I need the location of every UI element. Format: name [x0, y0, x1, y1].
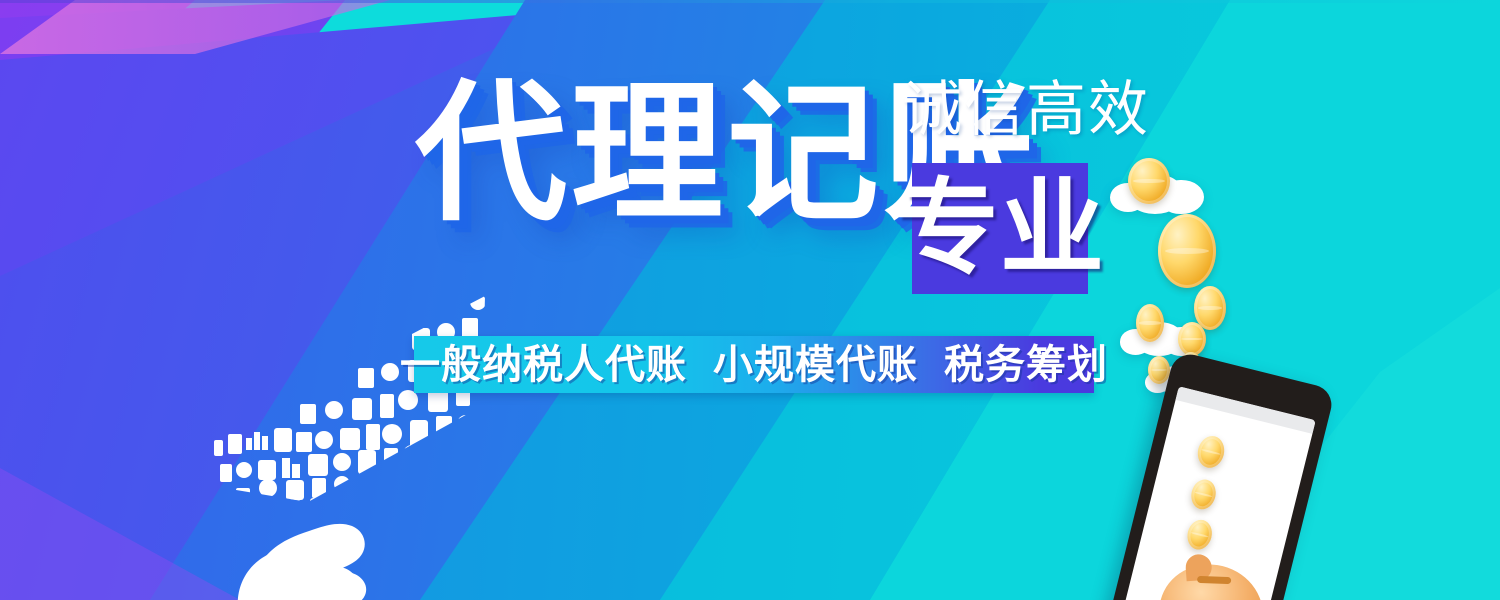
coin-icon — [1188, 477, 1219, 512]
service-item-1: 一般纳税人代账 — [400, 345, 687, 385]
phone-body — [1105, 350, 1335, 600]
phone-statusbar — [1176, 386, 1316, 434]
coin-icon — [1184, 517, 1215, 552]
tagline: 诚信高效 — [902, 80, 1150, 140]
hand-icon — [218, 470, 418, 600]
service-item-3: 税务筹划 — [944, 345, 1108, 385]
phone-screen — [1119, 386, 1315, 600]
top-edge-line — [0, 0, 1500, 3]
piggy-slot — [1197, 576, 1231, 584]
badge-label: 专业 — [895, 177, 1105, 281]
piggy-bank-icon — [1149, 554, 1273, 600]
coin-icon — [1128, 158, 1170, 204]
status-badge: 专业 — [912, 163, 1088, 294]
coin-icon — [1136, 304, 1164, 342]
services-bar: 一般纳税人代账 小规模代账 税务筹划 — [414, 336, 1094, 393]
coin-icon — [1195, 433, 1228, 470]
promotional-banner: 代理记账 诚信高效 专业 一般纳税人代账 小规模代账 税务筹划 — [0, 0, 1500, 600]
coin-icon — [1178, 322, 1206, 356]
coin-icon — [1158, 214, 1216, 288]
service-item-2: 小规模代账 — [713, 345, 918, 385]
smartphone-icon — [1128, 352, 1378, 600]
